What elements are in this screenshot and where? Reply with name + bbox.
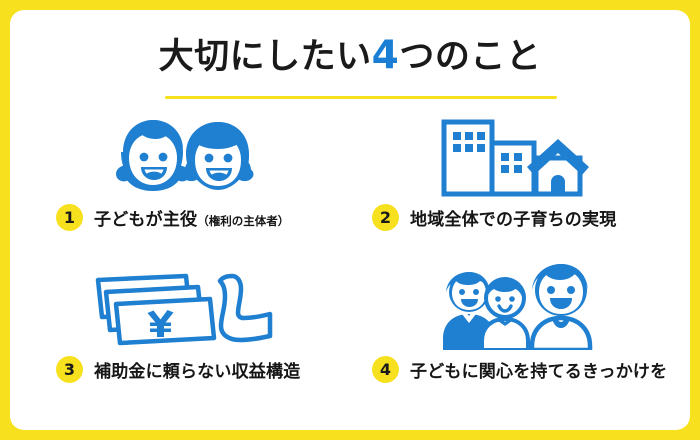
item-3-label: 補助金に頼らない収益構造 bbox=[94, 357, 300, 382]
family-people-icon bbox=[350, 258, 680, 350]
item-4-label-row: 4 子どもに関心を持てるきっかけを bbox=[350, 356, 680, 383]
item-3: 3 補助金に頼らない収益構造 bbox=[20, 258, 350, 417]
page-title: 大切にしたい4つのこと bbox=[10, 34, 690, 79]
title-accent-number: 4 bbox=[372, 33, 400, 78]
slide-frame: 大切にしたい4つのこと bbox=[0, 0, 700, 440]
item-3-label-row: 3 補助金に頼らない収益構造 bbox=[20, 356, 350, 383]
item-2-label-row: 2 地域全体での子育ちの実現 bbox=[350, 204, 680, 231]
item-1: 1 子どもが主役（権利の主体者） bbox=[20, 106, 350, 265]
item-1-label: 子どもが主役（権利の主体者） bbox=[94, 205, 289, 230]
item-3-label-main: 補助金に頼らない収益構造 bbox=[94, 362, 300, 382]
buildings-and-house-icon bbox=[350, 106, 680, 198]
money-bills-yen-icon bbox=[20, 258, 350, 350]
item-4-label-main: 子どもに関心を持てるきっかけを bbox=[410, 362, 667, 382]
two-children-faces-icon bbox=[20, 106, 350, 198]
item-2-label-main: 地域全体での子育ちの実現 bbox=[410, 210, 616, 230]
item-2: 2 地域全体での子育ちの実現 bbox=[350, 106, 680, 265]
items-grid: 1 子どもが主役（権利の主体者） bbox=[20, 106, 680, 424]
item-2-number-badge: 2 bbox=[372, 204, 399, 231]
title-part1: 大切にしたい bbox=[159, 37, 372, 77]
item-4-number-badge: 4 bbox=[372, 356, 399, 383]
item-1-number-badge: 1 bbox=[56, 204, 83, 231]
item-1-label-row: 1 子どもが主役（権利の主体者） bbox=[20, 204, 350, 231]
title-part2: つのこと bbox=[399, 37, 541, 77]
item-1-label-sub: （権利の主体者） bbox=[197, 214, 289, 228]
item-3-number-badge: 3 bbox=[56, 356, 83, 383]
title-underline bbox=[165, 96, 557, 99]
item-1-label-main: 子どもが主役 bbox=[94, 210, 197, 230]
item-4-label: 子どもに関心を持てるきっかけを bbox=[410, 357, 667, 382]
item-4: 4 子どもに関心を持てるきっかけを bbox=[350, 258, 680, 417]
item-2-label: 地域全体での子育ちの実現 bbox=[410, 205, 616, 230]
title-text: 大切にしたい4つのこと bbox=[159, 34, 542, 79]
slide-content: 大切にしたい4つのこと bbox=[10, 10, 690, 430]
